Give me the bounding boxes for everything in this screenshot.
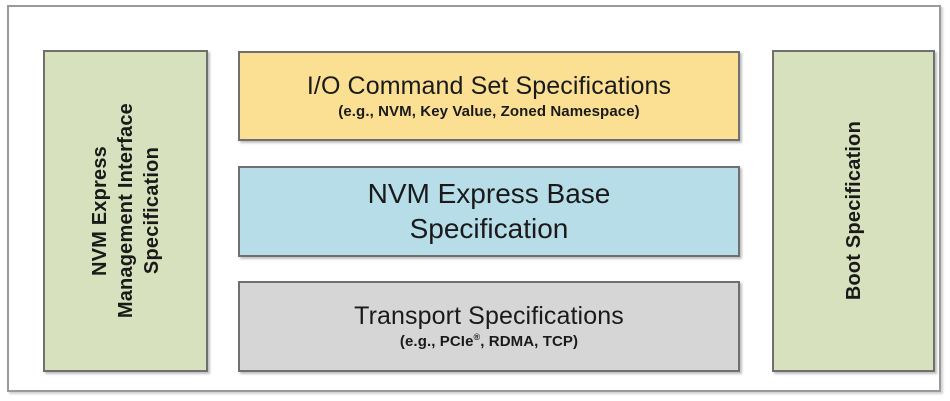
- nvme-specification-family-diagram: NVM Express Management Interface Specifi…: [0, 0, 950, 401]
- io-command-set-title: I/O Command Set Specifications: [307, 72, 671, 100]
- base-specification-title-line-2: Specification: [410, 212, 569, 246]
- management-interface-text-wrap: NVM Express Management Interface Specifi…: [87, 103, 165, 318]
- transport-subtitle-suffix: , RDMA, TCP): [480, 333, 578, 350]
- transport-specifications-title: Transport Specifications: [354, 302, 624, 330]
- base-specification-title-line-1: NVM Express Base: [368, 177, 611, 211]
- diagram-outer-frame: NVM Express Management Interface Specifi…: [7, 5, 941, 392]
- io-command-set-subtitle-text: (e.g., NVM, Key Value, Zoned Namespace): [338, 103, 640, 120]
- nvm-express-base-specification-box: NVM Express Base Specification: [238, 166, 740, 257]
- management-interface-specification-box: NVM Express Management Interface Specifi…: [43, 50, 208, 372]
- boot-specification-box: Boot Specification: [772, 50, 935, 372]
- transport-specifications-box: Transport Specifications (e.g., PCIe®, R…: [238, 281, 740, 372]
- management-interface-line-1: NVM Express: [87, 146, 113, 276]
- management-interface-line-2: Management Interface: [113, 103, 139, 318]
- boot-specification-line-1: Boot Specification: [841, 121, 867, 300]
- transport-subtitle-prefix: (e.g., PCIe: [400, 333, 474, 350]
- boot-specification-text-wrap: Boot Specification: [841, 121, 867, 300]
- management-interface-line-3: Specification: [139, 147, 165, 274]
- transport-specifications-subtitle: (e.g., PCIe®, RDMA, TCP): [400, 333, 578, 351]
- io-command-set-subtitle: (e.g., NVM, Key Value, Zoned Namespace): [338, 103, 640, 121]
- io-command-set-specifications-box: I/O Command Set Specifications (e.g., NV…: [238, 51, 740, 141]
